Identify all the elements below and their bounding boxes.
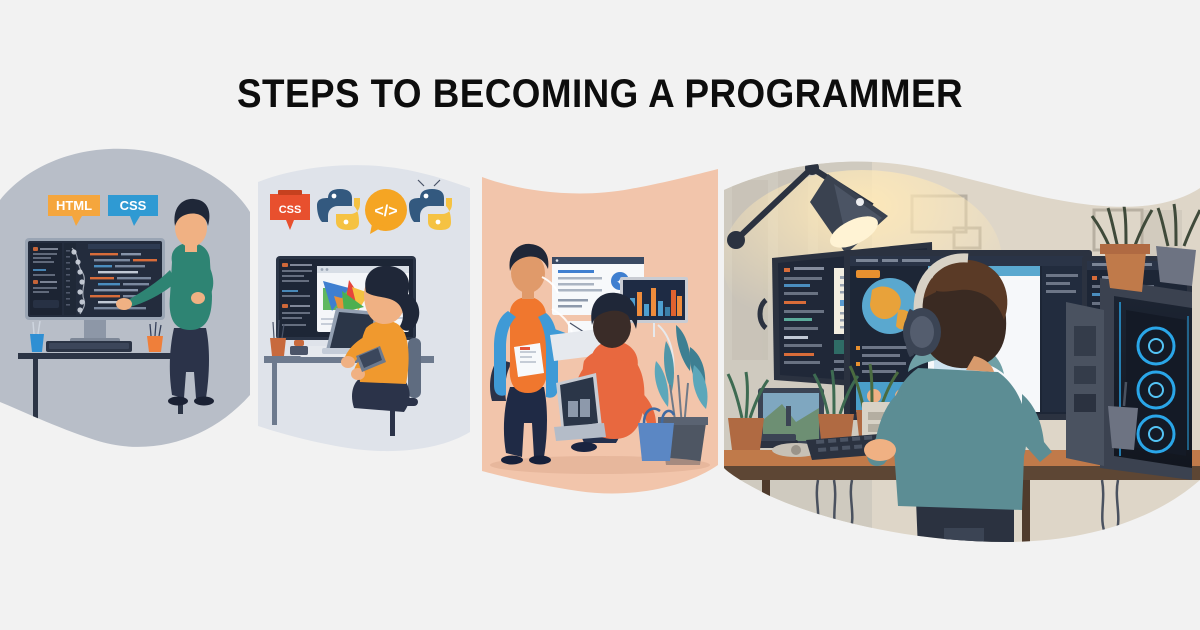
pen-cup — [270, 338, 286, 356]
pen-cup — [147, 336, 163, 352]
panel-3-art: ✦ — [480, 165, 726, 510]
blue-bag — [638, 423, 674, 461]
panel-work-as-a-developer — [722, 150, 1200, 550]
hand — [864, 439, 896, 461]
teal-hoodie — [890, 368, 1027, 510]
panel-collaborate-and-share: ✦ — [480, 165, 726, 510]
office-chair — [408, 338, 421, 398]
pot — [728, 418, 764, 450]
svg-text:</>: </> — [374, 203, 397, 220]
svg-text:CSS: CSS — [120, 198, 147, 213]
panel-practice-coding: </> </> — [248, 160, 484, 470]
svg-text:HTML: HTML — [56, 198, 92, 213]
poster-canvas: STEPS TO BECOMING A PROGRAMMER — [0, 0, 1200, 630]
panel-1-art: HTML CSS — [0, 140, 250, 470]
blue-cup — [30, 334, 44, 352]
pointing-hand — [116, 298, 132, 310]
desk-leg-left — [33, 359, 38, 427]
pc-tower-rgb — [1100, 278, 1192, 480]
panel-4-art — [722, 150, 1200, 550]
panel-2-art: </> </> — [248, 160, 484, 470]
page-title: STEPS TO BECOMING A PROGRAMMER — [48, 72, 1152, 117]
panel-learn-the-basics: HTML CSS — [0, 140, 250, 470]
pc-tower-secondary — [1066, 302, 1104, 466]
svg-text:CSS: CSS — [279, 204, 302, 216]
